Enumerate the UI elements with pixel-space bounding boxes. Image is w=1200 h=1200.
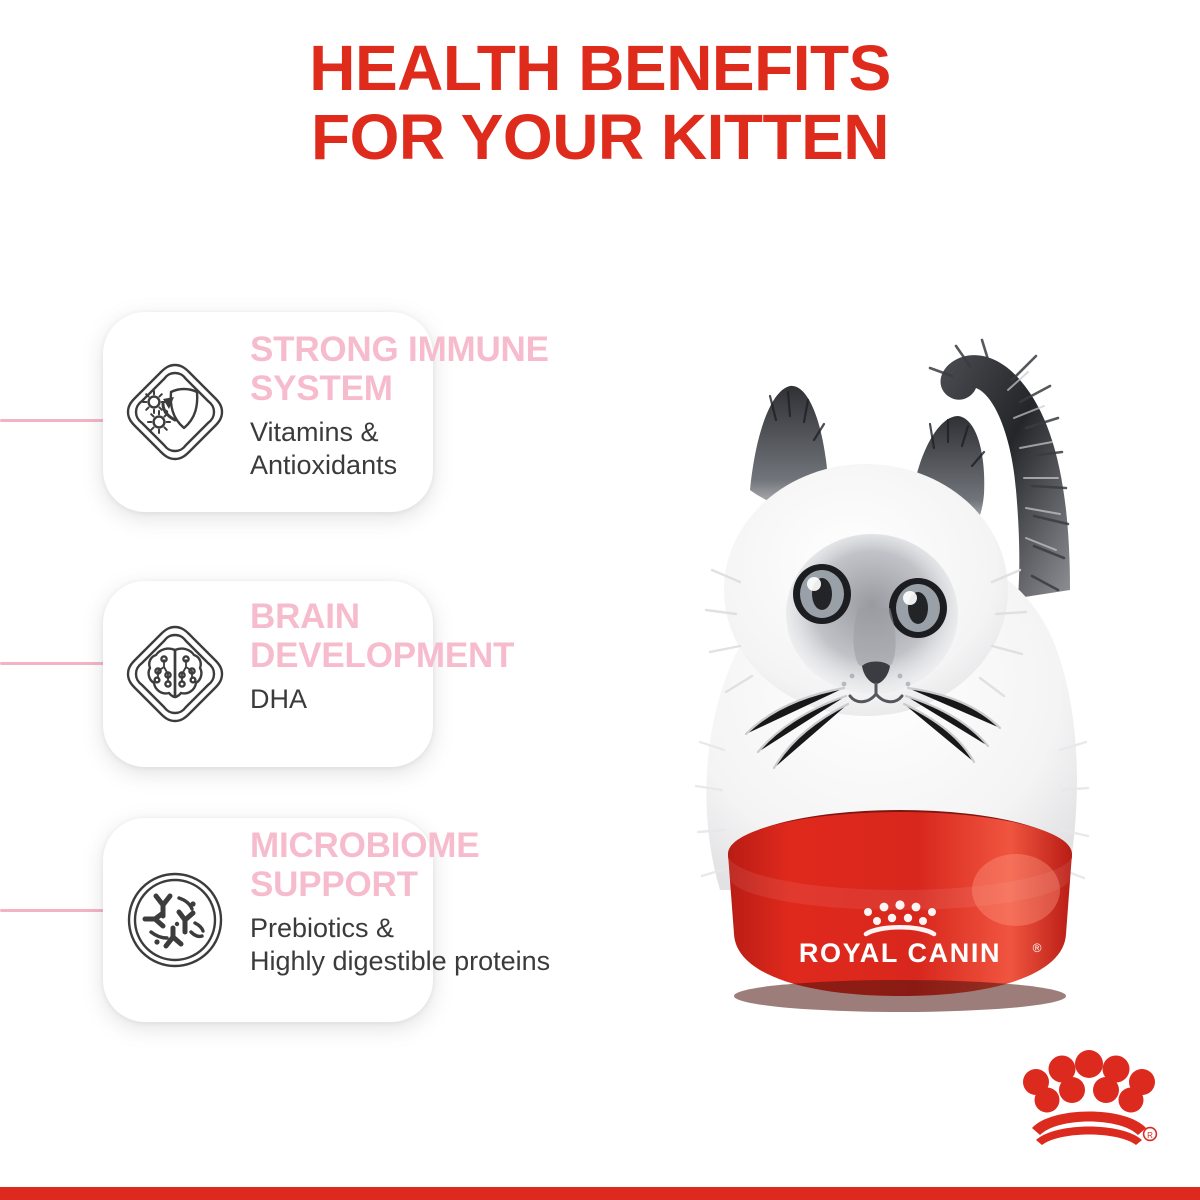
health-benefits-poster: HEALTH BENEFITS FOR YOUR KITTEN: [0, 0, 1200, 1200]
svg-text:R: R: [1147, 1131, 1153, 1140]
brain-icon: [121, 620, 229, 728]
bottom-accent-bar: [0, 1187, 1200, 1200]
microbiome-bacteria-icon: [121, 866, 229, 974]
registered-mark: R: [1144, 1128, 1157, 1141]
connector-line-2: [0, 662, 118, 665]
page-title: HEALTH BENEFITS FOR YOUR KITTEN: [0, 34, 1200, 172]
shield-germs-icon: [121, 358, 229, 466]
royal-canin-crown-logo: R: [1014, 1042, 1164, 1152]
bowl-registered-mark: ®: [1033, 941, 1042, 955]
food-bowl: ROYAL CANIN ®: [728, 810, 1072, 1012]
bowl-brand-text: ROYAL CANIN: [799, 938, 1001, 968]
connector-line-1: [0, 419, 118, 422]
kitten-with-bowl-artwork: ROYAL CANIN ®: [600, 190, 1200, 1060]
connector-line-3: [0, 909, 118, 912]
